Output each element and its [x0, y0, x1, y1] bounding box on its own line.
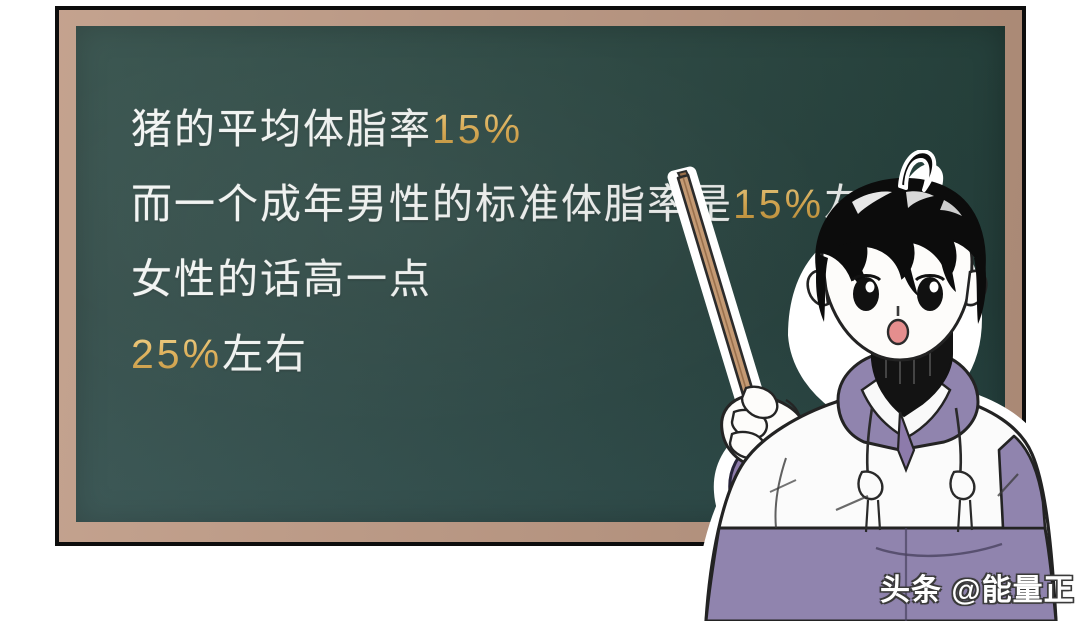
blackboard-line-4: 25%左右 [131, 317, 991, 392]
blackboard-surface: 猪的平均体脂率15% 而一个成年男性的标准体脂率是15%左右 女性的话高一点 2… [76, 26, 1005, 522]
line-4-highlight: 25% [131, 331, 222, 377]
line-1-text: 猪的平均体脂率 [131, 106, 432, 152]
line-2-text: 而一个成年男性的标准体脂率是 [131, 181, 733, 227]
line-3-text: 女性的话高一点 [131, 256, 432, 302]
blackboard: 猪的平均体脂率15% 而一个成年男性的标准体脂率是15%左右 女性的话高一点 2… [55, 6, 1026, 546]
watermark-label: 头条 @能量正 [880, 565, 1075, 609]
line-2-highlight: 15% [733, 181, 824, 227]
blackboard-line-1: 猪的平均体脂率15% [131, 92, 991, 167]
blackboard-line-2: 而一个成年男性的标准体脂率是15%左右 [131, 167, 991, 242]
blackboard-text-block: 猪的平均体脂率15% 而一个成年男性的标准体脂率是15%左右 女性的话高一点 2… [131, 92, 991, 392]
blackboard-line-3: 女性的话高一点 [131, 242, 991, 317]
line-1-highlight: 15% [432, 106, 523, 152]
line-2-text-tail: 左右 [824, 181, 910, 227]
blackboard-wooden-frame: 猪的平均体脂率15% 而一个成年男性的标准体脂率是15%左右 女性的话高一点 2… [59, 10, 1022, 542]
line-4-text-tail: 左右 [222, 331, 308, 377]
screenshot-canvas: 猪的平均体脂率15% 而一个成年男性的标准体脂率是15%左右 女性的话高一点 2… [0, 0, 1080, 621]
